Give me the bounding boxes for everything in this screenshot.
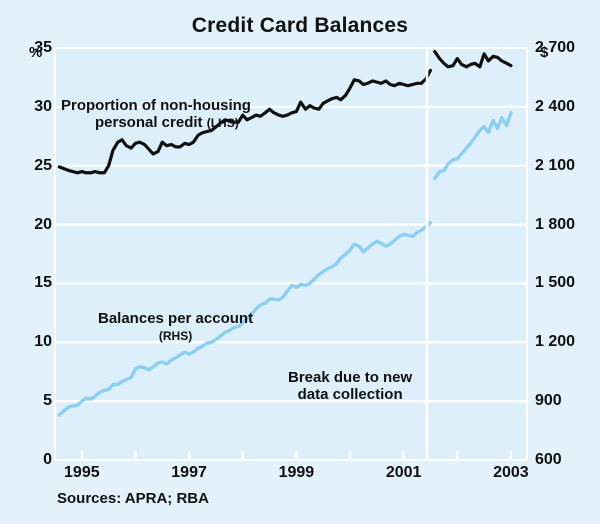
chart-figure: Credit Card Balances % $ 05101520253035 … <box>0 0 600 524</box>
lhs-label-axis-tag: (LHS) <box>207 116 239 130</box>
rhs-label-line1: Balances per account <box>98 310 253 327</box>
break-note: Break due to new data collection <box>288 370 412 404</box>
lhs-label-line1: Proportion of non-housing <box>61 97 251 114</box>
lhs-series-label: Proportion of non-housing personal credi… <box>61 98 251 132</box>
rhs-series-label: Balances per account (RHS) <box>98 311 253 345</box>
lhs-label-line2: personal credit <box>95 114 203 131</box>
break-note-line2: data collection <box>298 386 403 403</box>
sources-note: Sources: APRA; RBA <box>57 490 209 507</box>
rhs-label-axis-tag: (RHS) <box>159 329 192 343</box>
plot-canvas <box>0 0 600 524</box>
break-note-line1: Break due to new <box>288 369 412 386</box>
